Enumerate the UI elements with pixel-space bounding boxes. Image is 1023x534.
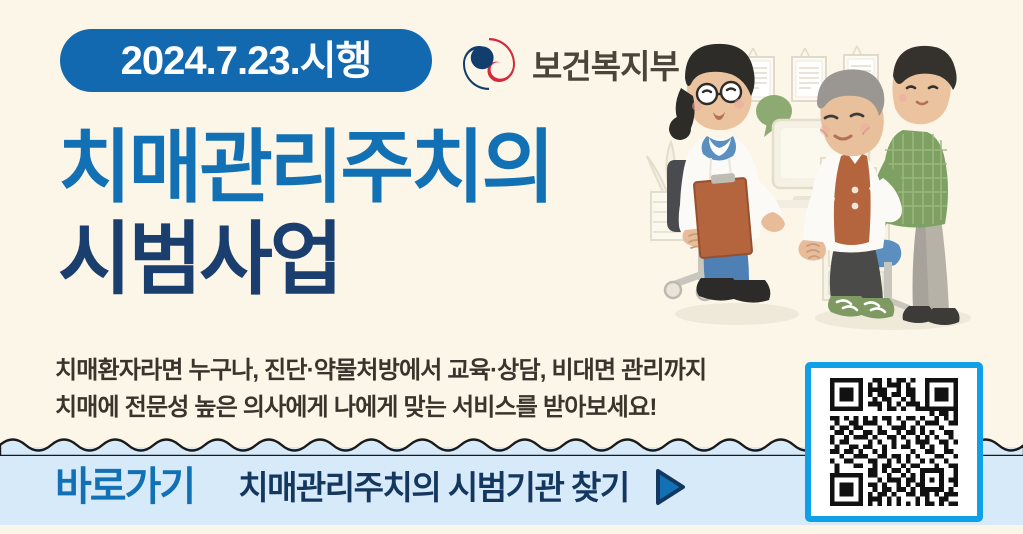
qr-code-image [816,373,972,511]
title-line-1: 치매관리주치의 [58,122,678,214]
description-block: 치매환자라면 누구나, 진단·약물처방에서 교육·상담, 비대면 관리까지 치매… [55,352,785,426]
page-title: 치매관리주치의 시범사업 [58,122,678,306]
shadow-doctor [675,303,799,325]
description-line-1: 치매환자라면 누구나, 진단·약물처방에서 교육·상담, 비대면 관리까지 [55,352,785,389]
qr-code[interactable] [805,362,983,522]
description-line-2: 치매에 전문성 높은 의사에게 나에게 맞는 서비스를 받아보세요! [55,389,785,426]
illustration-scene [645,18,1023,348]
korea-government-taegeuk-logo [458,33,520,95]
play-triangle-icon[interactable] [649,466,689,508]
title-line-2: 시범사업 [58,214,678,306]
effective-date-badge: 2024.7.23.시행 [60,29,432,92]
cta-row[interactable]: 바로가기 치매관리주치의 시범기관 찾기 [55,462,689,512]
effective-date-label: 2024.7.23.시행 [121,41,372,81]
dementia-care-program-banner: 2024.7.23.시행 보건복지부 치매관리주치의 시범사업 치매환자라면 누… [0,0,1023,534]
go-now-label: 바로가기 [55,467,194,507]
find-institution-label: 치매관리주치의 시범기관 찾기 [238,471,629,504]
clinic-consultation-illustration [645,18,1023,348]
banner-bottom-filler [0,525,1023,534]
